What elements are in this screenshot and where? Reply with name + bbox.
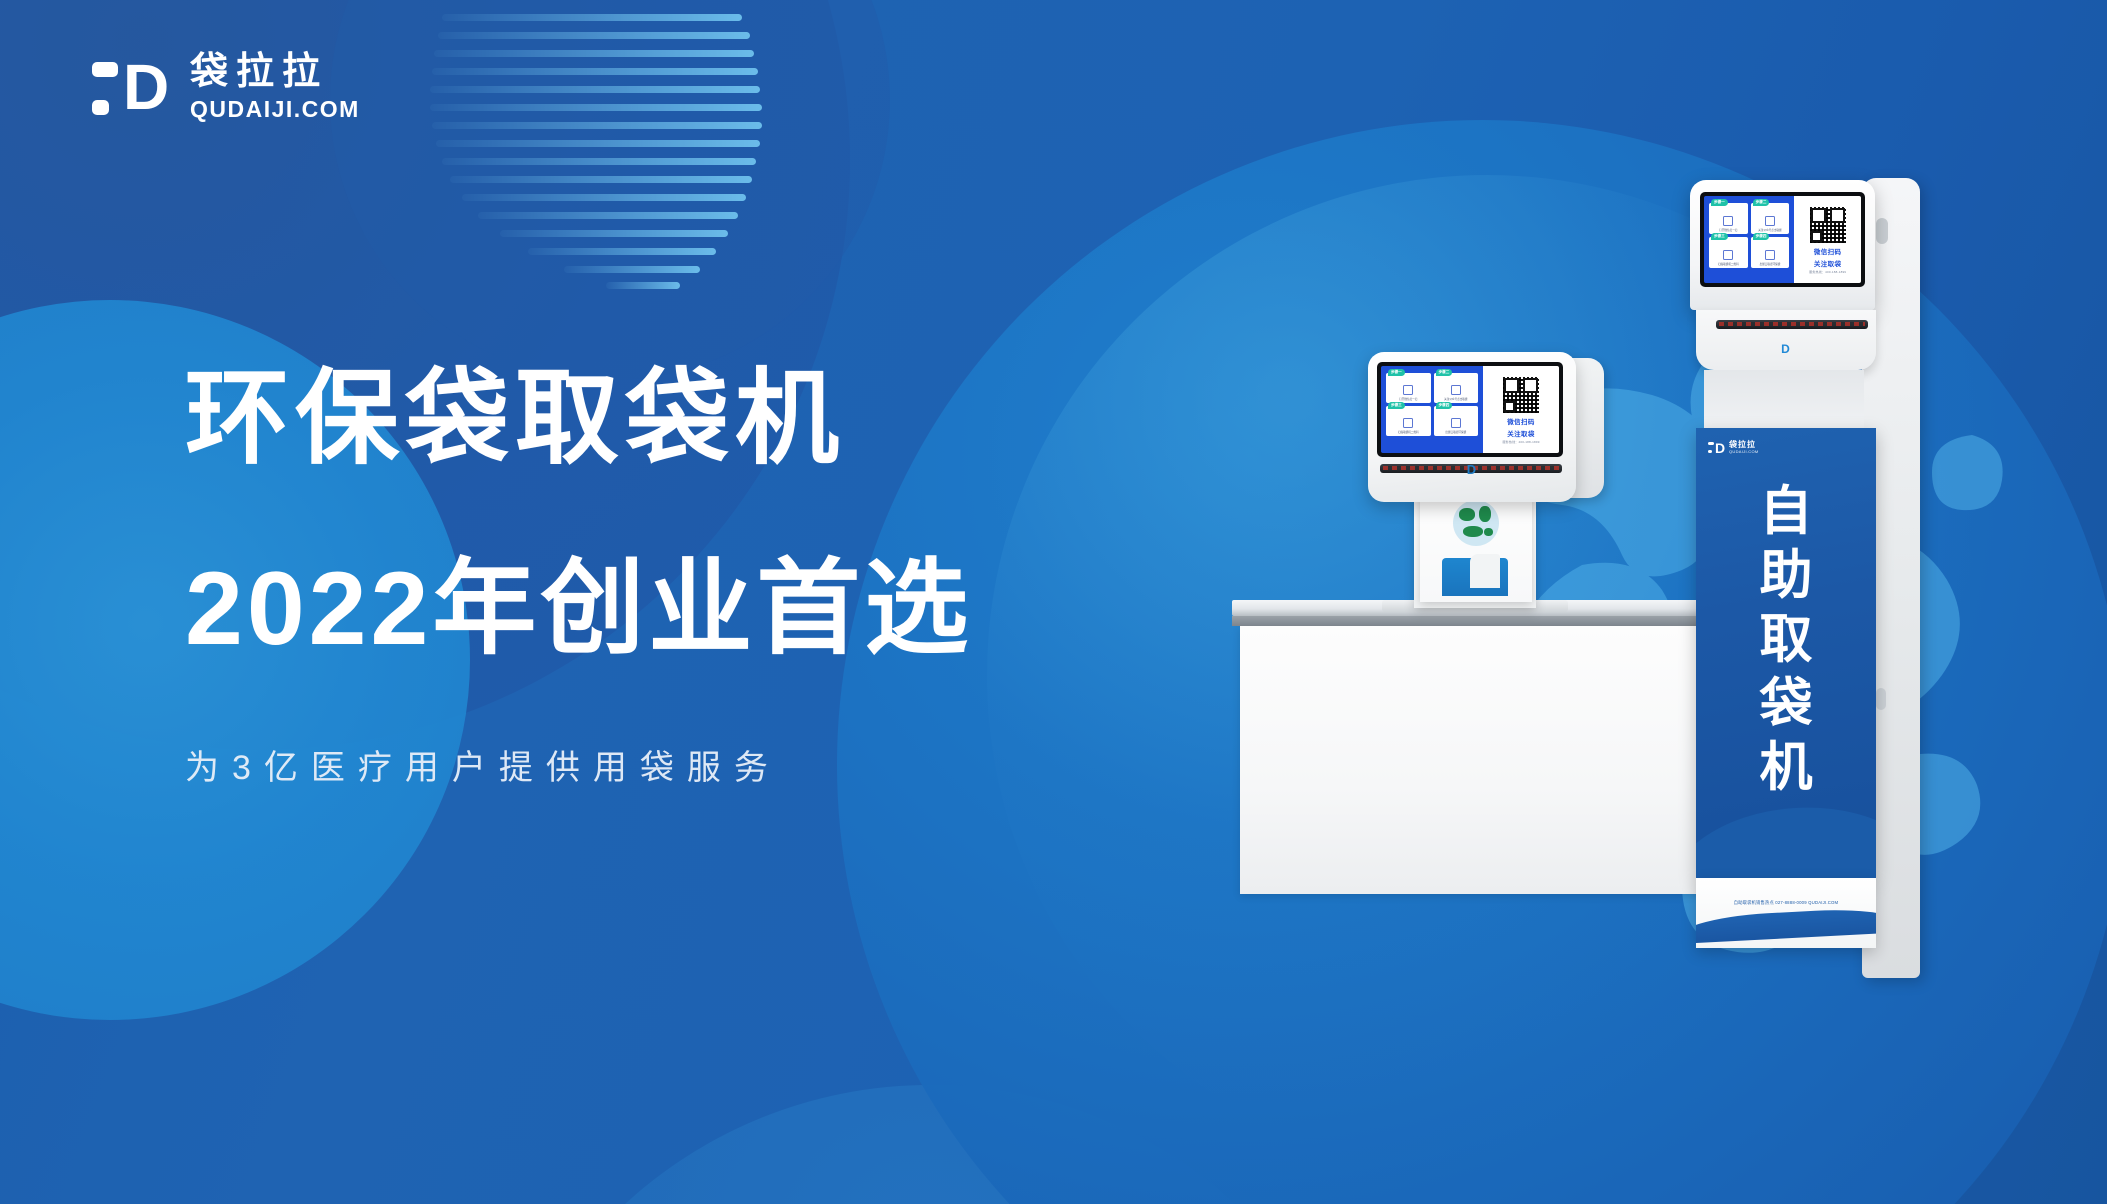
- step-card[interactable]: 步骤一 打开微信扫一扫: [1709, 203, 1748, 234]
- qudaiji-d-logo-icon: D: [1708, 441, 1724, 455]
- desk-front-panel: [1240, 626, 1744, 894]
- kiosk-head: 步骤一 打开微信扫一扫 步骤二 关注公众号点击取袋 步骤三 扫描取: [1690, 180, 1875, 310]
- kiosk-vertical-char: 取: [1760, 608, 1813, 672]
- promo-banner: D 袋拉拉 QUDAIJI.COM 环保袋取袋机 2022年创业首选 为3亿医疗…: [0, 0, 2107, 1204]
- headline-line-1: 环保袋取袋机: [185, 360, 972, 478]
- qr-title-line-1: 微信扫码: [1507, 416, 1535, 426]
- kiosk-footer-band: [1696, 906, 1876, 945]
- follow-icon: [1765, 216, 1775, 226]
- qudaiji-d-logo-icon: D: [92, 56, 168, 120]
- follow-icon: [1451, 385, 1461, 395]
- step-caption: 打开微信扫一扫: [1719, 228, 1737, 232]
- step-caption: 关注公众号点击取袋: [1444, 397, 1467, 401]
- qr-title-line-2: 关注取袋: [1507, 428, 1535, 438]
- kiosk-panel-logo: D 袋拉拉 QUDAIJI.COM: [1708, 440, 1759, 455]
- step-tag: 步骤一: [1388, 369, 1405, 376]
- step-tag: 步骤四: [1436, 402, 1453, 409]
- kiosk-dispense-band: D: [1696, 310, 1876, 370]
- kiosk-screen[interactable]: 步骤一 打开微信扫一扫 步骤二 关注公众号点击取袋 步骤三 扫描取: [1700, 192, 1865, 287]
- kiosk-panel-brand-en: QUDAIJI.COM: [1729, 449, 1759, 455]
- bag-icon: [1451, 418, 1461, 428]
- kiosk-vertical-char: 袋: [1760, 672, 1813, 736]
- step-tag: 步骤一: [1711, 199, 1728, 206]
- step-tag: 步骤四: [1753, 233, 1770, 240]
- qr-code-icon[interactable]: [1502, 376, 1540, 414]
- step-tag: 步骤二: [1753, 199, 1770, 206]
- kiosk-footer: 自助取袋机销售热点 027-8888-0009 QUDAIJI.COM: [1696, 878, 1876, 948]
- headline-line-2: 2022年创业首选: [185, 550, 972, 668]
- desktop-dispenser-unit: 环保购物袋 爱护地球 步骤一 打开微信扫一扫: [1368, 352, 1628, 607]
- logo-dash-bottom: [92, 100, 109, 115]
- brand-logo-text: 袋拉拉 QUDAIJI.COM: [190, 52, 360, 123]
- qr-hotline: 服务热线：400-188-1899: [1502, 440, 1539, 444]
- bag-icon: [1765, 250, 1775, 260]
- decor-stripes: [430, 0, 790, 290]
- step-tag: 步骤二: [1436, 369, 1453, 376]
- step-caption: 扫描取袋机二维码: [1718, 262, 1739, 266]
- step-card[interactable]: 步骤二 关注公众号点击取袋: [1434, 373, 1479, 403]
- step-card[interactable]: 步骤二 关注公众号点击取袋: [1751, 203, 1790, 234]
- step-card[interactable]: 步骤四 出袋口取走环保袋: [1751, 237, 1790, 268]
- desktop-unit-body: 步骤一 打开微信扫一扫 步骤二 关注公众号点击取袋 步骤三 扫描取: [1368, 352, 1576, 502]
- step-tag: 步骤三: [1388, 402, 1405, 409]
- scan-icon: [1723, 216, 1733, 226]
- kiosk-vertical-char: 机: [1760, 736, 1813, 800]
- qr-code-icon[interactable]: [1809, 206, 1847, 244]
- kiosk-mid-column: [1704, 370, 1864, 430]
- step-card[interactable]: 步骤三 扫描取袋机二维码: [1709, 237, 1748, 268]
- qr-title-line-1: 微信扫码: [1814, 246, 1842, 256]
- kiosk-vertical-label: 自 助 取 袋 机: [1754, 480, 1818, 800]
- kiosk-panel-brand-cn: 袋拉拉: [1729, 440, 1759, 449]
- counter-desk: [1232, 600, 1752, 920]
- kiosk-side-button-bottom[interactable]: [1876, 688, 1886, 710]
- kiosk-vertical-char: 助: [1760, 544, 1813, 608]
- step-card[interactable]: 步骤一 打开微信扫一扫: [1386, 373, 1431, 403]
- brand-name-cn: 袋拉拉: [190, 52, 360, 92]
- headline-subtitle: 为3亿医疗用户提供用袋服务: [185, 746, 972, 790]
- step-card[interactable]: 步骤三 扫描取袋机二维码: [1386, 406, 1431, 436]
- kiosk-fine-print: 自助取袋机销售热点 027-8888-0009 QUDAIJI.COM: [1701, 900, 1872, 906]
- step-caption: 出袋口取走环保袋: [1445, 430, 1466, 434]
- screen-steps-panel: 步骤一 打开微信扫一扫 步骤二 关注公众号点击取袋 步骤三 扫描取: [1704, 196, 1794, 283]
- screen-qr-panel: 微信扫码 关注取袋 服务热线：400-188-1899: [1794, 196, 1861, 283]
- step-caption: 扫描取袋机二维码: [1398, 430, 1419, 434]
- screen-qr-panel: 微信扫码 关注取袋 服务热线：400-188-1899: [1483, 366, 1559, 453]
- kiosk-graphic-panel: D 袋拉拉 QUDAIJI.COM 自 助 取 袋 机: [1696, 428, 1876, 878]
- logo-letter-d: D: [123, 58, 168, 120]
- desk-edge: [1232, 616, 1752, 626]
- desktop-unit-screen[interactable]: 步骤一 打开微信扫一扫 步骤二 关注公众号点击取袋 步骤三 扫描取: [1377, 362, 1563, 457]
- green-earth-icon: [1453, 500, 1499, 546]
- brand-name-en: QUDAIJI.COM: [190, 96, 360, 123]
- qr-title-line-2: 关注取袋: [1814, 258, 1842, 268]
- step-caption: 出袋口取走环保袋: [1760, 262, 1781, 266]
- logo-dash-top: [92, 62, 118, 77]
- scan-icon: [1403, 385, 1413, 395]
- qr-icon: [1403, 418, 1413, 428]
- floor-standing-kiosk: 步骤一 打开微信扫一扫 步骤二 关注公众号点击取袋 步骤三 扫描取: [1690, 180, 1920, 980]
- desktop-unit-logo: D: [1368, 462, 1576, 477]
- screen-ui: 步骤一 打开微信扫一扫 步骤二 关注公众号点击取袋 步骤三 扫描取: [1704, 196, 1861, 283]
- kiosk-panel-wave-blue: [1696, 799, 1876, 878]
- kiosk-dispense-slot: [1716, 320, 1868, 329]
- headline-block: 环保袋取袋机 2022年创业首选 为3亿医疗用户提供用袋服务: [185, 360, 972, 790]
- screen-steps-panel: 步骤一 打开微信扫一扫 步骤二 关注公众号点击取袋 步骤三 扫描取: [1381, 366, 1483, 453]
- step-caption: 打开微信扫一扫: [1399, 397, 1417, 401]
- step-caption: 关注公众号点击取袋: [1758, 228, 1781, 232]
- qr-icon: [1723, 250, 1733, 260]
- qr-hotline: 服务热线：400-188-1899: [1809, 270, 1846, 274]
- kiosk-vertical-char: 自: [1760, 480, 1813, 544]
- screen-ui: 步骤一 打开微信扫一扫 步骤二 关注公众号点击取袋 步骤三 扫描取: [1381, 366, 1559, 453]
- brand-logo[interactable]: D 袋拉拉 QUDAIJI.COM: [92, 52, 360, 123]
- kiosk-body-logo: D: [1696, 342, 1876, 356]
- step-tag: 步骤三: [1711, 233, 1728, 240]
- kiosk-side-button-top[interactable]: [1876, 218, 1888, 244]
- step-card[interactable]: 步骤四 出袋口取走环保袋: [1434, 406, 1479, 436]
- bag-handle: [1442, 558, 1508, 596]
